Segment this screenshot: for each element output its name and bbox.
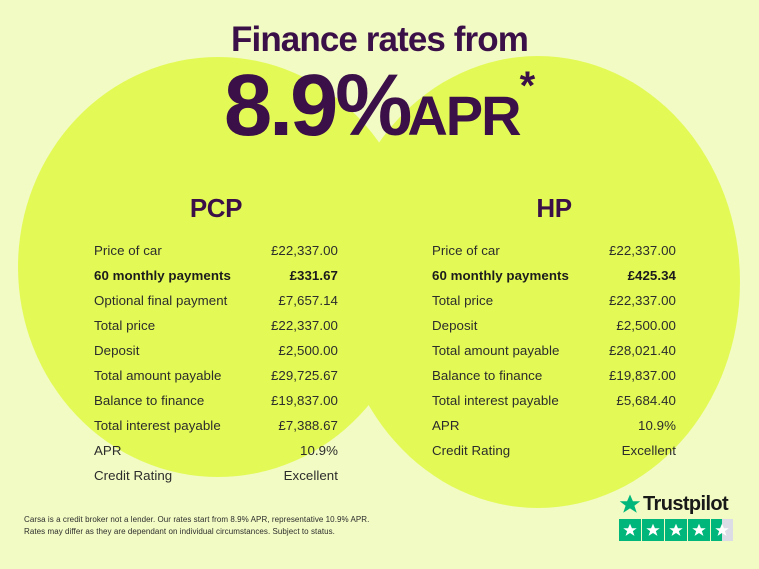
plan-row: Balance to finance£19,837.00 — [409, 368, 699, 393]
plan-row-label: 60 monthly payments — [94, 268, 231, 283]
plan-row: Total interest payable£7,388.67 — [71, 418, 361, 443]
plan-row: 60 monthly payments£425.34 — [409, 268, 699, 293]
plan-row-label: Total price — [94, 318, 155, 333]
plan-row: Credit RatingExcellent — [409, 443, 699, 468]
trustpilot-logo: Trustpilot — [619, 492, 736, 516]
plan-row: Price of car£22,337.00 — [409, 243, 699, 268]
plan-row-label: Price of car — [432, 243, 500, 258]
plan-row-value: £22,337.00 — [271, 243, 338, 258]
plan-row-value: £331.67 — [290, 268, 338, 283]
plan-row-label: Total interest payable — [432, 393, 559, 408]
plan-row: APR10.9% — [71, 443, 361, 468]
plan-row-label: Price of car — [94, 243, 162, 258]
plan-row-value: £2,500.00 — [278, 343, 338, 358]
plan-row-value: £7,657.14 — [278, 293, 338, 308]
plan-row-label: Deposit — [432, 318, 477, 333]
plan-row: Balance to finance£19,837.00 — [71, 393, 361, 418]
plan-row-value: Excellent — [622, 443, 676, 458]
plan-row-label: Optional final payment — [94, 293, 227, 308]
plan-rows-pcp: Price of car£22,337.0060 monthly payment… — [71, 243, 361, 493]
plan-row-value: £22,337.00 — [271, 318, 338, 333]
finance-plan-pcp: PCP Price of car£22,337.0060 monthly pay… — [71, 193, 361, 493]
plan-row: Total price£22,337.00 — [409, 293, 699, 318]
plan-row-value: 10.9% — [638, 418, 676, 433]
plan-row-value: £29,725.67 — [271, 368, 338, 383]
plan-row-label: Credit Rating — [94, 468, 172, 483]
finance-plan-hp: HP Price of car£22,337.0060 monthly paym… — [409, 193, 699, 468]
plan-row-label: Total amount payable — [432, 343, 559, 358]
trustpilot-rating[interactable]: Trustpilot — [619, 492, 736, 541]
plan-row-label: Deposit — [94, 343, 139, 358]
plan-row-value: £28,021.40 — [609, 343, 676, 358]
trustpilot-wordmark: Trustpilot — [643, 494, 728, 514]
disclaimer-line-1: Carsa is a credit broker not a lender. O… — [24, 514, 444, 526]
trustpilot-star-box — [665, 519, 687, 541]
plan-row: Total amount payable£29,725.67 — [71, 368, 361, 393]
plan-row: Deposit£2,500.00 — [71, 343, 361, 368]
plan-row-value: £22,337.00 — [609, 293, 676, 308]
plan-row: Credit RatingExcellent — [71, 468, 361, 493]
plan-row-value: Excellent — [284, 468, 338, 483]
disclaimer-line-2: Rates may differ as they are dependant o… — [24, 526, 444, 538]
plan-row-value: £22,337.00 — [609, 243, 676, 258]
plan-row-label: Total price — [432, 293, 493, 308]
trustpilot-star-box — [619, 519, 641, 541]
plan-row: APR10.9% — [409, 418, 699, 443]
plan-row-value: £5,684.40 — [616, 393, 676, 408]
headline-rate-value: 8.9% — [224, 57, 410, 154]
plan-row-value: 10.9% — [300, 443, 338, 458]
plan-row: Total interest payable£5,684.40 — [409, 393, 699, 418]
plan-row-label: 60 monthly payments — [432, 268, 569, 283]
plan-heading-hp: HP — [409, 193, 699, 224]
plan-row: 60 monthly payments£331.67 — [71, 268, 361, 293]
trustpilot-star-box — [711, 519, 733, 541]
plan-row-label: Balance to finance — [432, 368, 542, 383]
plan-row: Optional final payment£7,657.14 — [71, 293, 361, 318]
plan-row-value: £425.34 — [628, 268, 676, 283]
legal-disclaimer: Carsa is a credit broker not a lender. O… — [24, 514, 444, 539]
plan-row-label: APR — [94, 443, 122, 458]
plan-row-value: £7,388.67 — [278, 418, 338, 433]
trustpilot-star-box — [688, 519, 710, 541]
plan-row: Total amount payable£28,021.40 — [409, 343, 699, 368]
page-title: Finance rates from — [0, 20, 759, 60]
plan-rows-hp: Price of car£22,337.0060 monthly payment… — [409, 243, 699, 468]
trustpilot-star-icon — [619, 493, 641, 515]
plan-row-label: Total amount payable — [94, 368, 221, 383]
plan-heading-pcp: PCP — [71, 193, 361, 224]
plan-row-value: £2,500.00 — [616, 318, 676, 333]
asterisk-marker: * — [520, 64, 536, 108]
plan-row: Total price£22,337.00 — [71, 318, 361, 343]
plan-row-label: Balance to finance — [94, 393, 204, 408]
trustpilot-star-rating — [619, 519, 736, 541]
plan-row-value: £19,837.00 — [271, 393, 338, 408]
plan-row: Deposit£2,500.00 — [409, 318, 699, 343]
plan-row-label: APR — [432, 418, 460, 433]
trustpilot-star-box — [642, 519, 664, 541]
plan-row: Price of car£22,337.00 — [71, 243, 361, 268]
promo-banner: Finance rates from 8.9%APR* PCP Price of… — [0, 0, 759, 569]
headline-rate-unit: APR — [407, 84, 519, 147]
plan-row-value: £19,837.00 — [609, 368, 676, 383]
headline-rate: 8.9%APR* — [0, 62, 759, 149]
plan-row-label: Total interest payable — [94, 418, 221, 433]
plan-row-label: Credit Rating — [432, 443, 510, 458]
